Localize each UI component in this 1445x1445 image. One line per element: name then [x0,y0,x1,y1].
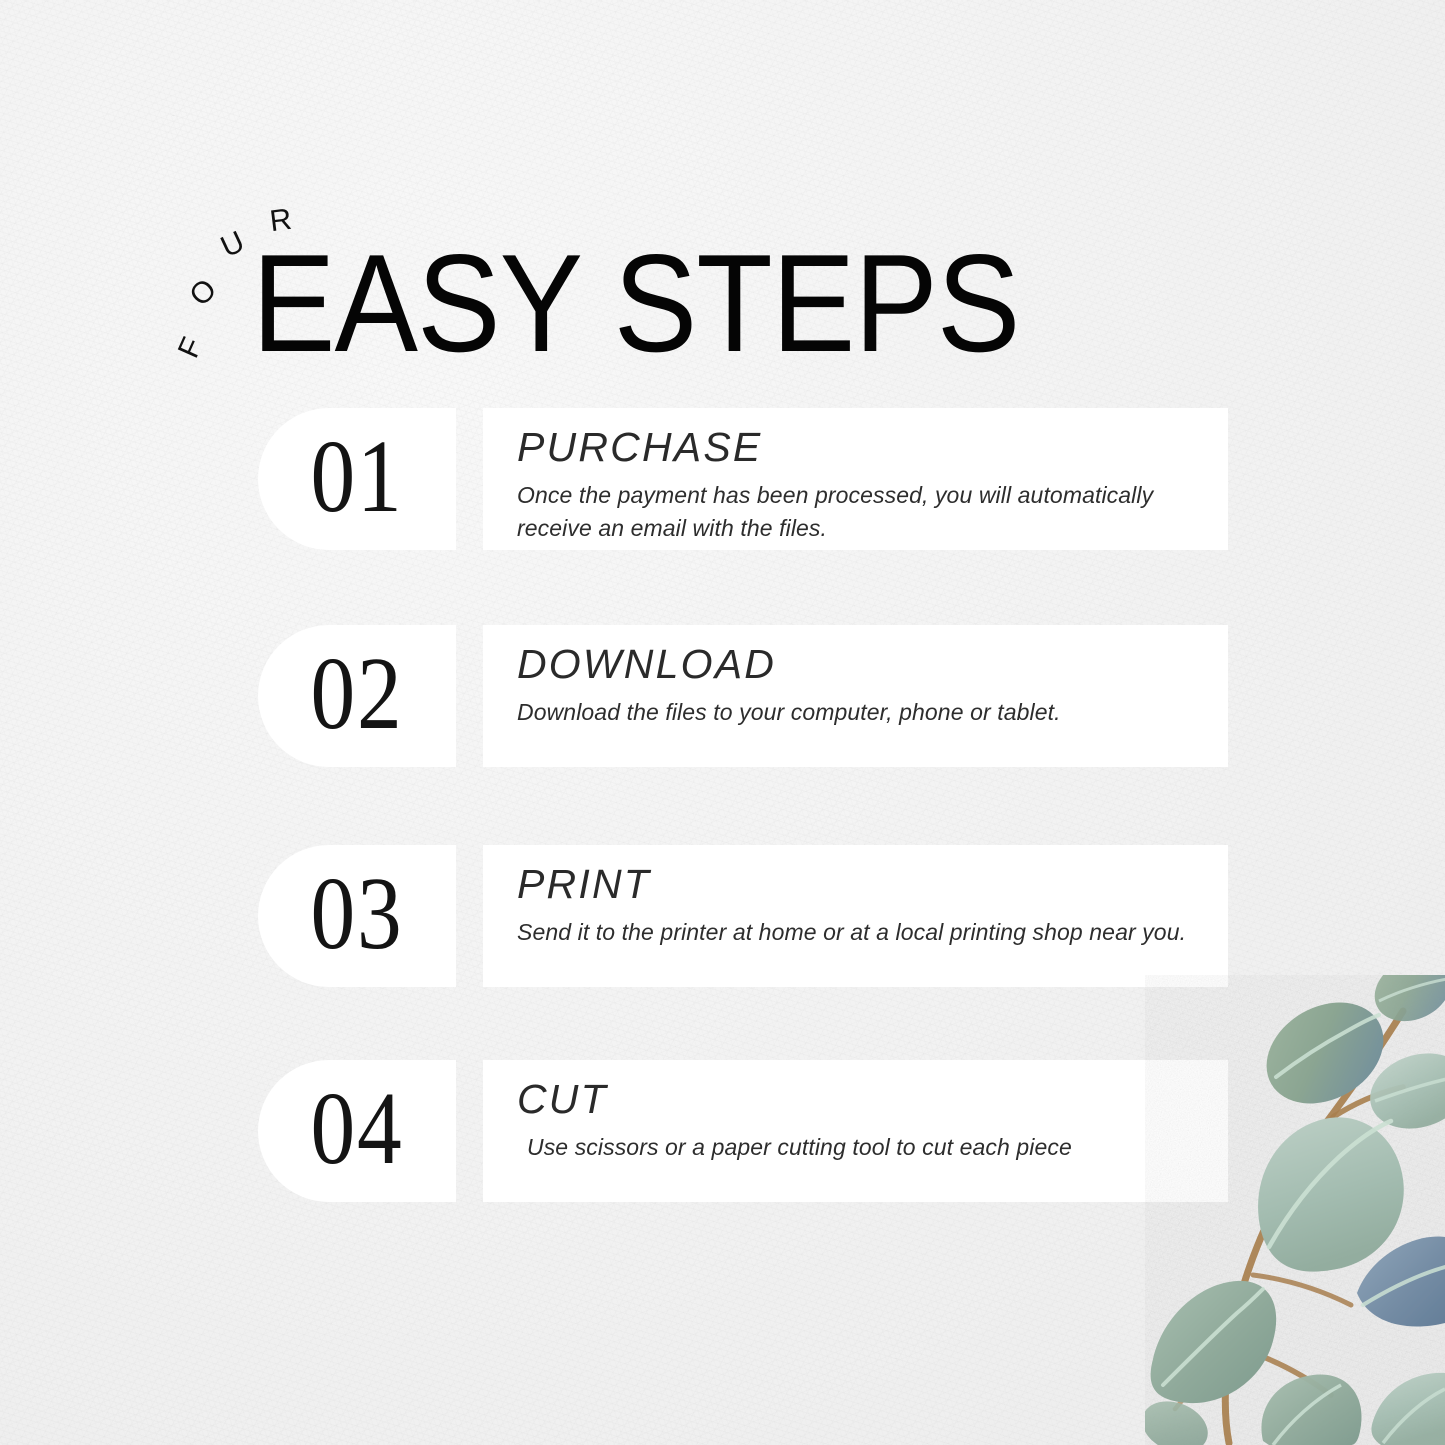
step-description: Use scissors or a paper cutting tool to … [527,1131,1227,1164]
step-row: 02 DOWNLOAD Download the files to your c… [258,625,1228,767]
step-heading: PRINT [517,862,1228,907]
step-description: Download the files to your computer, pho… [517,696,1217,729]
step-number-pill: 04 [258,1060,456,1202]
step-number-pill: 03 [258,845,456,987]
step-row: 03 PRINT Send it to the printer at home … [258,845,1228,987]
step-number: 03 [311,862,404,966]
step-row: 01 PURCHASE Once the payment has been pr… [258,408,1228,550]
step-row: 04 CUT Use scissors or a paper cutting t… [258,1060,1228,1202]
step-heading: CUT [517,1077,1228,1122]
step-description: Send it to the printer at home or at a l… [517,916,1217,949]
step-card: DOWNLOAD Download the files to your comp… [483,625,1228,767]
step-card: PURCHASE Once the payment has been proce… [483,408,1228,550]
step-number-pill: 02 [258,625,456,767]
step-number: 02 [311,642,404,746]
step-number: 01 [311,425,404,529]
step-heading: DOWNLOAD [517,642,1228,687]
step-heading: PURCHASE [517,425,1228,470]
steps-list: 01 PURCHASE Once the payment has been pr… [0,0,1445,1445]
step-number: 04 [311,1077,404,1181]
step-description: Once the payment has been processed, you… [517,479,1217,544]
step-card: PRINT Send it to the printer at home or … [483,845,1228,987]
step-number-pill: 01 [258,408,456,550]
step-card: CUT Use scissors or a paper cutting tool… [483,1060,1228,1202]
